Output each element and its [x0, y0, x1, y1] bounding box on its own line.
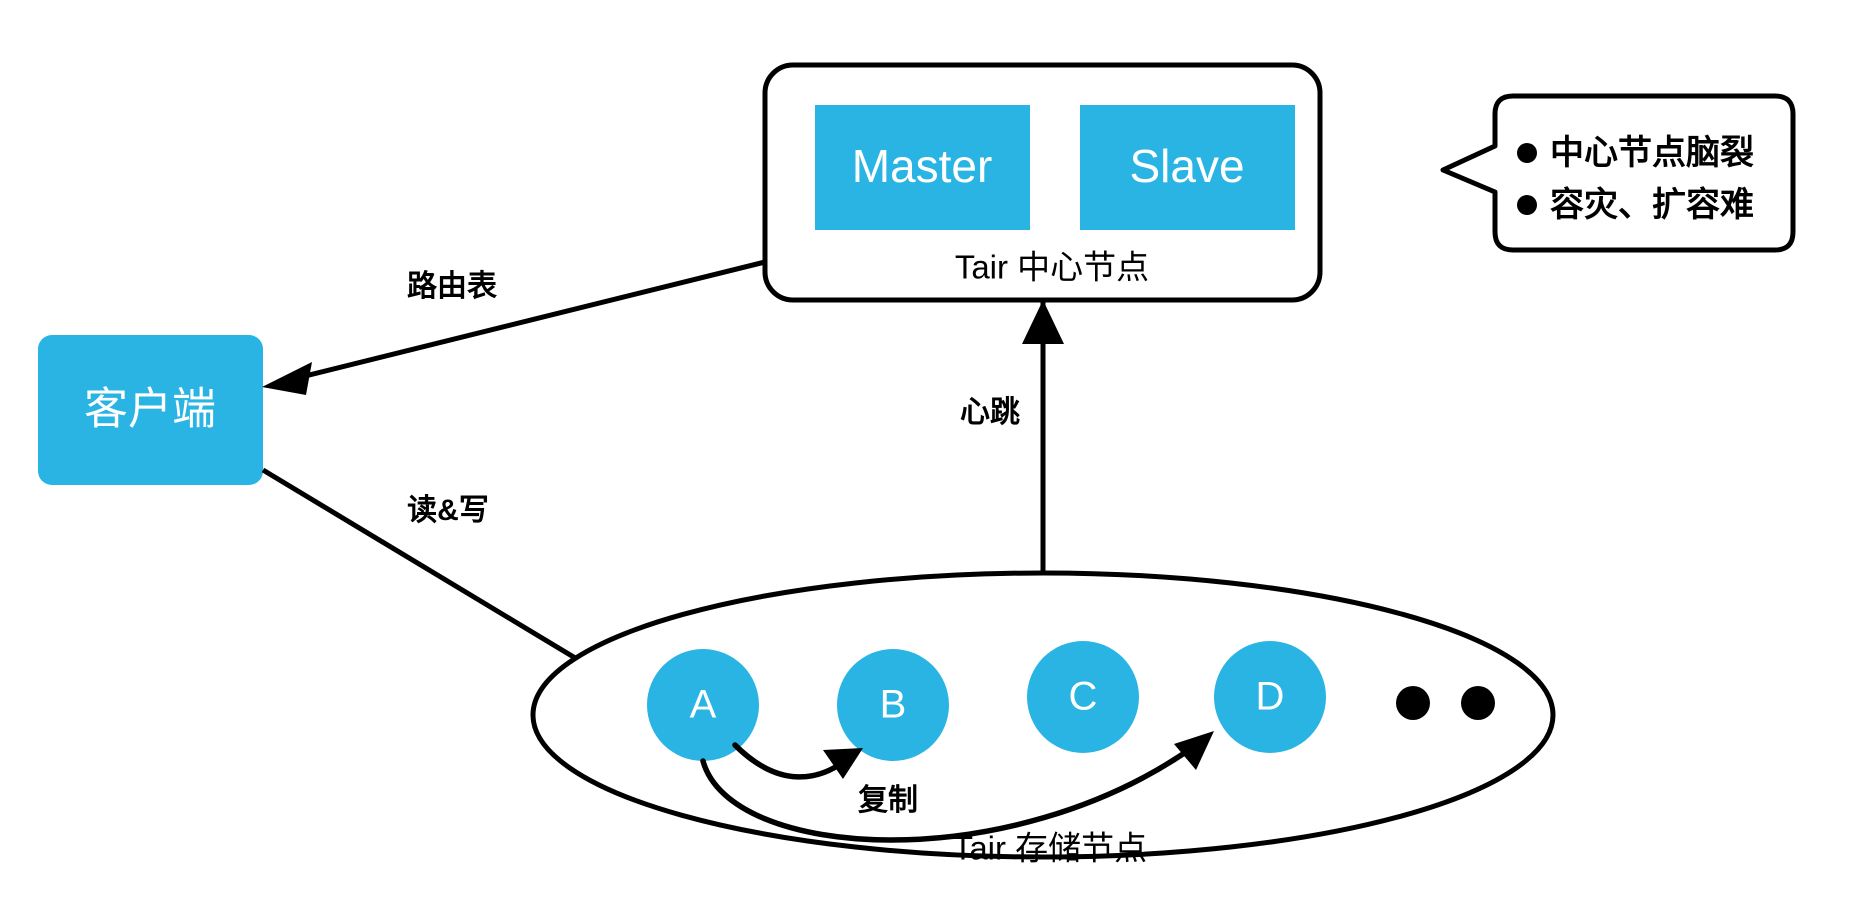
replicate-label: 复制 [858, 784, 918, 817]
heartbeat-arrowhead [1022, 300, 1064, 344]
architecture-diagram: Master Slave Tair 中心节点 客户端 路由表 读&写 心跳 [0, 0, 1850, 908]
diagram-canvas: Master Slave Tair 中心节点 客户端 路由表 读&写 心跳 [0, 0, 1850, 908]
ellipsis-dot-1 [1396, 686, 1430, 720]
callout-item-1: 中心节点脑裂 [1550, 134, 1754, 172]
storage-node-b-label: B [880, 683, 907, 727]
edge-route-table: 路由表 [262, 262, 765, 395]
edge-heartbeat: 心跳 [960, 300, 1064, 572]
callout-item-2: 容灾、扩容难 [1550, 185, 1754, 224]
storage-node-a-label: A [690, 683, 717, 727]
center-node-caption: Tair 中心节点 [955, 249, 1149, 286]
callout-bullet-icon-2 [1517, 195, 1537, 215]
route-table-label: 路由表 [407, 270, 497, 303]
client-group[interactable]: 客户端 [38, 335, 263, 485]
callout-bullet-icon-1 [1517, 143, 1537, 163]
route-table-line [285, 262, 765, 381]
read-write-label: 读&写 [407, 494, 489, 527]
slave-label: Slave [1129, 140, 1244, 192]
ellipsis-dot-2 [1461, 686, 1495, 720]
storage-group[interactable]: A B C D 复制 Tair 存储节点 [533, 573, 1553, 867]
callout-box[interactable] [1443, 96, 1793, 250]
storage-group-caption: Tair 存储节点 [953, 830, 1147, 867]
center-node-group[interactable]: Master Slave Tair 中心节点 [765, 65, 1320, 300]
storage-node-d-label: D [1256, 675, 1285, 719]
route-table-arrowhead [262, 362, 312, 395]
storage-node-c-label: C [1069, 675, 1098, 719]
callout-group[interactable]: 中心节点脑裂 容灾、扩容难 [1443, 96, 1793, 250]
client-label: 客户端 [84, 385, 216, 434]
heartbeat-label: 心跳 [960, 396, 1020, 429]
master-label: Master [852, 140, 993, 192]
